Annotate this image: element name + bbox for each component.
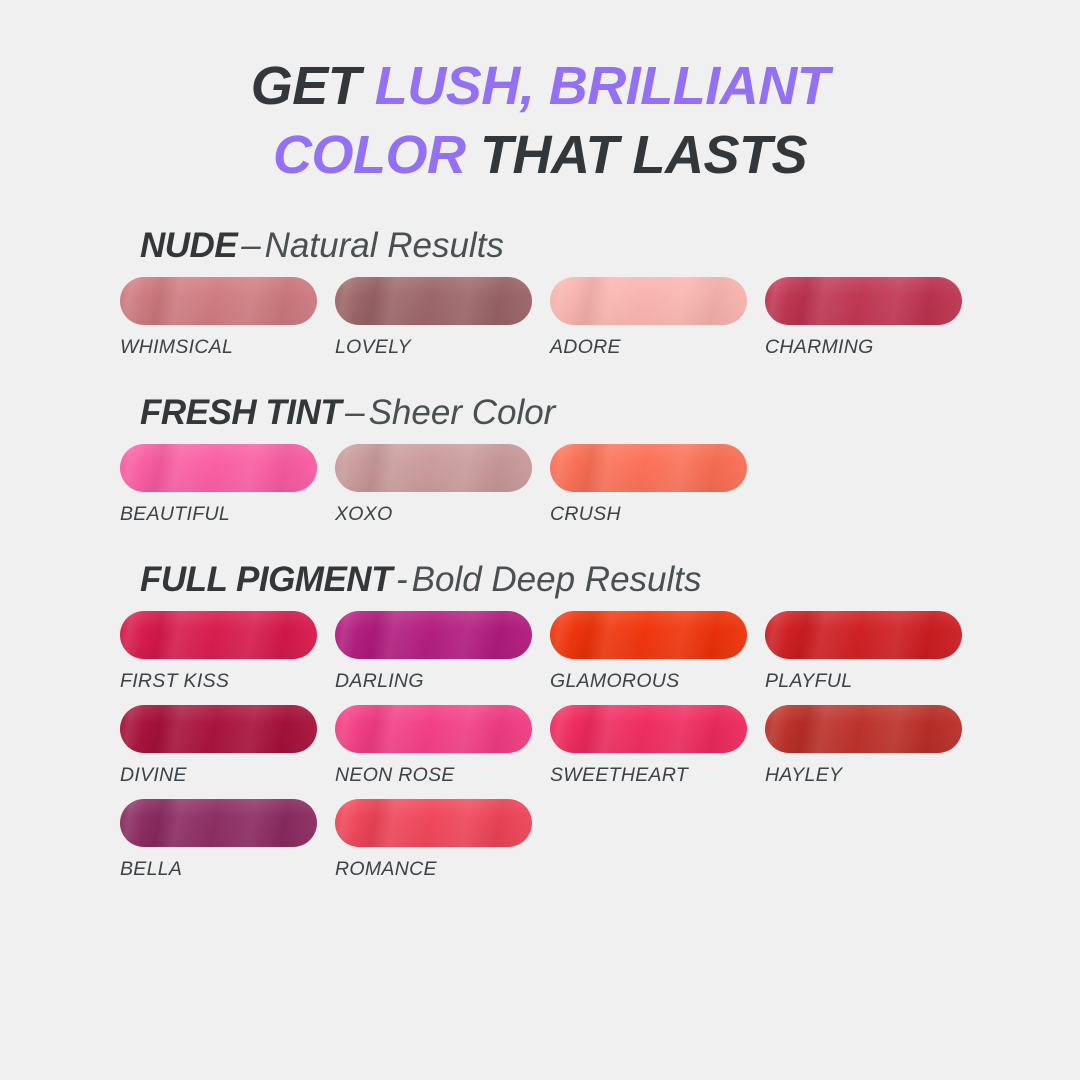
shade-name-label: ADORE <box>550 336 747 359</box>
swatch-cell[interactable]: PLAYFUL <box>765 611 962 693</box>
swatch-cell[interactable]: XOXO <box>335 444 532 526</box>
shade-name-label: GLAMOROUS <box>550 670 747 693</box>
section-subtitle: Bold Deep Results <box>412 560 702 599</box>
section-title: FULL PIGMENT <box>140 560 392 599</box>
shade-swatch[interactable] <box>765 277 962 325</box>
shade-name-label: DIVINE <box>120 764 317 787</box>
shade-name-label: LOVELY <box>335 336 532 359</box>
shade-name-label: ROMANCE <box>335 858 532 881</box>
shade-section-full-pigment: FULL PIGMENT-Bold Deep ResultsFIRST KISS… <box>0 562 1080 881</box>
shade-name-label: XOXO <box>335 503 532 526</box>
headline-part-that-lasts: THAT LASTS <box>466 125 807 185</box>
shade-swatch[interactable] <box>120 799 317 847</box>
shade-swatch[interactable] <box>765 705 962 753</box>
swatch-cell[interactable]: ROMANCE <box>335 799 532 881</box>
section-dash: – <box>237 226 264 265</box>
swatch-cell[interactable]: LOVELY <box>335 277 532 359</box>
section-heading-full-pigment: FULL PIGMENT-Bold Deep Results <box>140 562 1080 597</box>
swatch-cell[interactable]: BEAUTIFUL <box>120 444 317 526</box>
shade-sections: NUDE–Natural ResultsWHIMSICALLOVELYADORE… <box>0 228 1080 881</box>
swatch-cell[interactable]: FIRST KISS <box>120 611 317 693</box>
swatch-cell[interactable]: NEON ROSE <box>335 705 532 787</box>
section-title: FRESH TINT <box>140 393 341 432</box>
swatch-cell[interactable]: ADORE <box>550 277 747 359</box>
page-headline: GET LUSH, BRILLIANT COLOR THAT LASTS <box>0 0 1080 190</box>
swatch-cell[interactable]: GLAMOROUS <box>550 611 747 693</box>
shade-swatch[interactable] <box>550 444 747 492</box>
headline-part-get: GET <box>251 56 375 116</box>
shade-name-label: DARLING <box>335 670 532 693</box>
swatch-cell[interactable]: BELLA <box>120 799 317 881</box>
shade-name-label: HAYLEY <box>765 764 962 787</box>
shade-name-label: SWEETHEART <box>550 764 747 787</box>
swatch-cell[interactable]: DARLING <box>335 611 532 693</box>
swatch-cell[interactable]: WHIMSICAL <box>120 277 317 359</box>
shade-name-label: BELLA <box>120 858 317 881</box>
shade-swatch[interactable] <box>335 444 532 492</box>
shade-name-label: NEON ROSE <box>335 764 532 787</box>
shade-swatch[interactable] <box>550 705 747 753</box>
section-dash: – <box>341 393 368 432</box>
swatch-grid-nude: WHIMSICALLOVELYADORECHARMING <box>120 277 998 359</box>
shade-swatch[interactable] <box>120 705 317 753</box>
swatch-cell[interactable]: CHARMING <box>765 277 962 359</box>
swatch-grid-full-pigment: FIRST KISSDARLINGGLAMOROUSPLAYFULDIVINEN… <box>120 611 998 881</box>
shade-swatch[interactable] <box>335 799 532 847</box>
section-dash: - <box>392 560 412 599</box>
shade-swatch[interactable] <box>120 277 317 325</box>
section-title: NUDE <box>140 226 237 265</box>
shade-swatch[interactable] <box>335 277 532 325</box>
shade-swatch[interactable] <box>550 611 747 659</box>
shade-name-label: FIRST KISS <box>120 670 317 693</box>
shade-swatch[interactable] <box>120 444 317 492</box>
shade-name-label: PLAYFUL <box>765 670 962 693</box>
shade-swatch[interactable] <box>550 277 747 325</box>
shade-section-fresh-tint: FRESH TINT–Sheer ColorBEAUTIFULXOXOCRUSH <box>0 395 1080 526</box>
shade-name-label: BEAUTIFUL <box>120 503 317 526</box>
shade-swatch[interactable] <box>765 611 962 659</box>
headline-part-color: COLOR <box>273 125 466 185</box>
headline-part-lush-brilliant: LUSH, BRILLIANT <box>375 56 829 116</box>
section-subtitle: Natural Results <box>265 226 504 265</box>
swatch-grid-fresh-tint: BEAUTIFULXOXOCRUSH <box>120 444 998 526</box>
headline-line-2: COLOR THAT LASTS <box>0 121 1080 190</box>
swatch-cell[interactable]: HAYLEY <box>765 705 962 787</box>
shade-swatch[interactable] <box>335 611 532 659</box>
swatch-cell[interactable]: CRUSH <box>550 444 747 526</box>
shade-section-nude: NUDE–Natural ResultsWHIMSICALLOVELYADORE… <box>0 228 1080 359</box>
product-shade-chart: GET LUSH, BRILLIANT COLOR THAT LASTS NUD… <box>0 0 1080 1080</box>
swatch-cell[interactable]: DIVINE <box>120 705 317 787</box>
section-subtitle: Sheer Color <box>369 393 556 432</box>
shade-name-label: WHIMSICAL <box>120 336 317 359</box>
section-heading-nude: NUDE–Natural Results <box>140 228 1080 263</box>
shade-swatch[interactable] <box>335 705 532 753</box>
swatch-cell[interactable]: SWEETHEART <box>550 705 747 787</box>
shade-name-label: CHARMING <box>765 336 962 359</box>
headline-line-1: GET LUSH, BRILLIANT <box>0 52 1080 121</box>
section-heading-fresh-tint: FRESH TINT–Sheer Color <box>140 395 1080 430</box>
shade-name-label: CRUSH <box>550 503 747 526</box>
shade-swatch[interactable] <box>120 611 317 659</box>
